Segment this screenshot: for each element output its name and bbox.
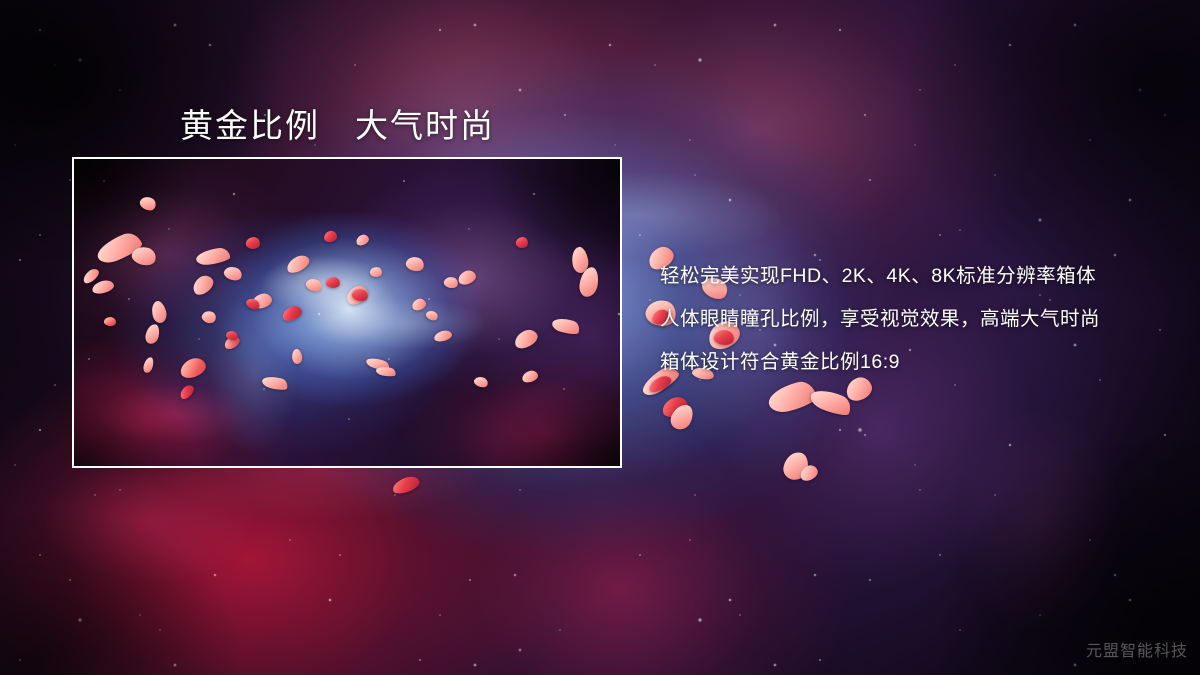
- petal: [766, 379, 819, 416]
- body-text-line: 人体眼睛瞳孔比例，享受视觉效果，高端大气时尚: [660, 298, 1180, 341]
- petal: [808, 385, 854, 419]
- image-panel-content: [74, 159, 620, 466]
- body-text-line: 箱体设计符合黄金比例16:9: [660, 341, 1180, 384]
- petal: [660, 394, 690, 419]
- panel-vignette: [74, 159, 620, 466]
- petal: [391, 474, 422, 496]
- petal: [798, 463, 820, 483]
- petal: [668, 401, 697, 433]
- slide-title: 黄金比例 大气时尚: [180, 99, 495, 147]
- watermark: 元盟智能科技: [1086, 637, 1188, 661]
- body-text-block: 轻松完美实现FHD、2K、4K、8K标准分辨率箱体 人体眼睛瞳孔比例，享受视觉效…: [660, 255, 1180, 384]
- body-text-line: 轻松完美实现FHD、2K、4K、8K标准分辨率箱体: [660, 255, 1180, 298]
- presentation-slide: 黄金比例 大气时尚: [0, 0, 1200, 675]
- petal: [781, 450, 810, 482]
- image-panel: [72, 157, 622, 468]
